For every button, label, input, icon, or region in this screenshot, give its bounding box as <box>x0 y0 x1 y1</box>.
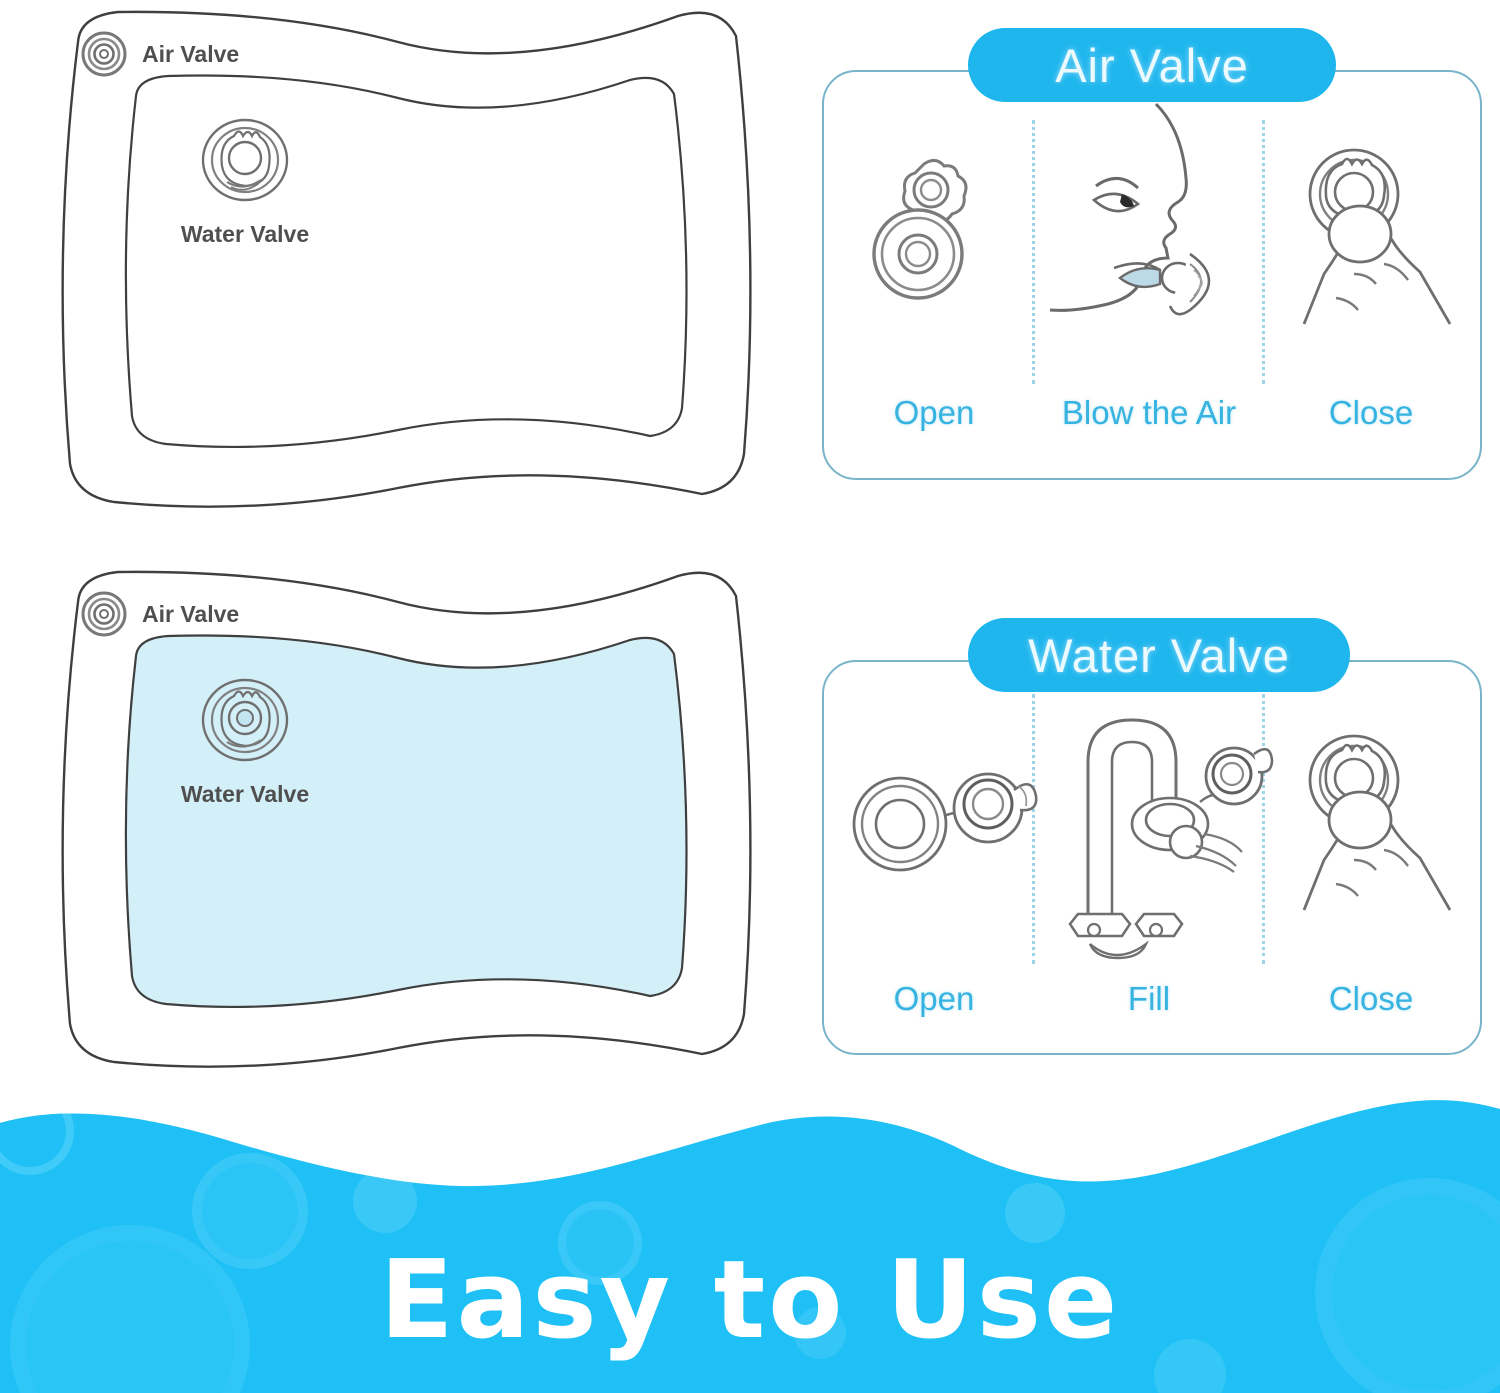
water-valve-icon <box>203 680 287 760</box>
air-valve-panel: Open Blow the Air Close <box>822 70 1482 480</box>
finger-press-valve-icon <box>1292 136 1472 386</box>
bubble <box>1005 1183 1065 1243</box>
mat-water-area <box>126 635 687 1006</box>
water-valve-badge: Water Valve <box>968 618 1350 692</box>
air-valve-label: Air Valve <box>142 41 239 67</box>
water-valve-label: Water Valve <box>181 221 309 247</box>
air-valve-icon <box>83 33 125 75</box>
water-valve-icon <box>203 120 287 200</box>
open-water-valve-icon <box>848 746 1038 886</box>
mat-inner-outline <box>126 75 687 446</box>
step-label-fill: Fill <box>1074 980 1224 1018</box>
water-filled-mat: Air Valve Water Valve <box>18 562 778 1082</box>
faucet-fill-icon <box>1054 696 1269 966</box>
step-label-blow: Blow the Air <box>1036 394 1262 432</box>
air-valve-icon <box>83 593 125 635</box>
infographic-stage: Air Valve Water Valve Air Valve <box>0 0 1500 1393</box>
blowing-face-icon <box>1060 94 1270 384</box>
deflated-mat-drawing: Air Valve Water Valve <box>18 2 778 522</box>
step-label-close: Close <box>1286 980 1456 1018</box>
easy-to-use-banner: Easy to Use <box>0 1093 1500 1393</box>
water-filled-mat-drawing: Air Valve Water Valve <box>18 562 778 1082</box>
step-label-open: Open <box>854 980 1014 1018</box>
banner-title: Easy to Use <box>0 1238 1500 1363</box>
air-valve-panel-inner: Open Blow the Air Close <box>824 72 1480 478</box>
open-air-valve-icon <box>864 152 1014 312</box>
panel-divider <box>1032 120 1035 384</box>
step-label-open: Open <box>854 394 1014 432</box>
water-valve-label: Water Valve <box>181 781 309 807</box>
deflated-mat: Air Valve Water Valve <box>18 2 778 522</box>
water-valve-panel-inner: Open Fill Close <box>824 662 1480 1053</box>
bubble <box>353 1169 417 1233</box>
water-valve-panel: Open Fill Close <box>822 660 1482 1055</box>
finger-press-valve-icon <box>1292 722 1472 972</box>
air-valve-label: Air Valve <box>142 601 239 627</box>
step-label-close: Close <box>1286 394 1456 432</box>
air-valve-badge: Air Valve <box>968 28 1336 102</box>
